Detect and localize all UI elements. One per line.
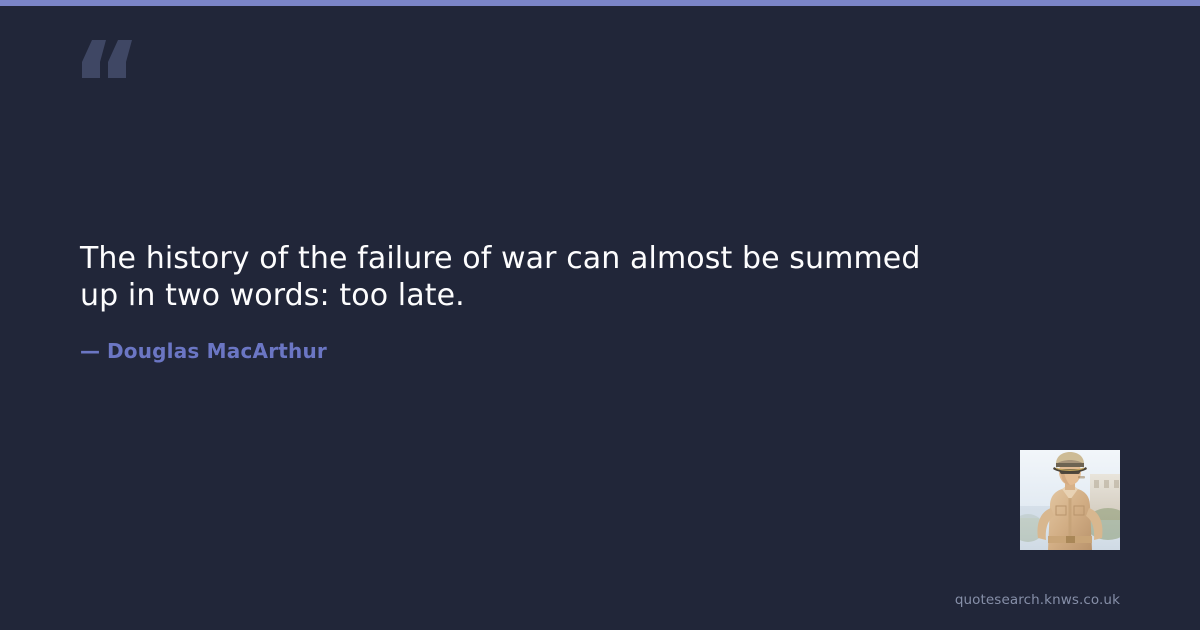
- open-quote-icon: [80, 18, 140, 88]
- quote-text-line-1: The history of the failure of war can al…: [80, 240, 980, 277]
- top-accent-bar: [0, 0, 1200, 6]
- author-dash: —: [80, 339, 107, 363]
- author-attribution: — Douglas MacArthur: [80, 339, 327, 363]
- quote-card: The history of the failure of war can al…: [0, 0, 1200, 630]
- quote-block: The history of the failure of war can al…: [80, 240, 980, 314]
- quote-text-line-2: up in two words: too late.: [80, 277, 980, 314]
- author-portrait-thumbnail: [1020, 450, 1120, 550]
- site-watermark: quotesearch.knws.co.uk: [955, 592, 1120, 608]
- author-name: Douglas MacArthur: [107, 339, 327, 363]
